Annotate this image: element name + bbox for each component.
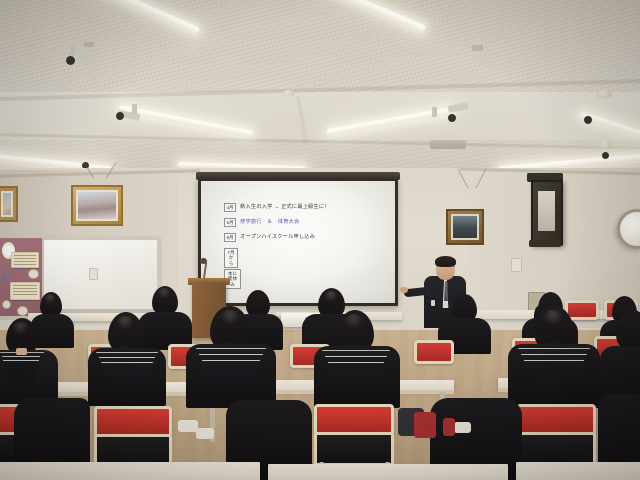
uniform-trim-stripe [325, 356, 387, 357]
ceiling [0, 0, 640, 182]
picture-art [78, 192, 116, 219]
slide-row-text: 新入生の入学 → 正式に最上級生に！ [240, 203, 329, 210]
slide-row-text: オープンハイスクール申し込み [240, 233, 315, 240]
presenter-hair [435, 256, 456, 267]
slide-row-text: 修学旅行 ＆ 体育大会 [240, 218, 299, 225]
slide-content: 4月 新入生の入学 → 正式に最上級生に！ 5月 修学旅行 ＆ 体育大会 6月 … [224, 203, 376, 287]
framed-painting-landscape [71, 185, 123, 226]
uniform-trim-stripe [2, 356, 40, 357]
uniform-trim-stripe [524, 360, 584, 361]
student-shoe [454, 422, 471, 433]
uniform-trim-stripe [99, 357, 155, 358]
hair-highlight [324, 291, 338, 302]
notice-card [11, 252, 39, 268]
hair-highlight [12, 322, 29, 335]
student-desk [0, 462, 260, 480]
chair-seat [314, 432, 394, 466]
uniform-trim-stripe [521, 354, 587, 355]
uniform-trim-stripe [101, 362, 153, 363]
uniform-trim-stripe [328, 362, 384, 363]
hair-highlight [220, 310, 240, 325]
notice-card [10, 282, 40, 300]
smoke-detector [598, 140, 612, 148]
star-decoration [1, 274, 8, 281]
slide-month-label: 7月 から [224, 248, 238, 268]
student-shoe [196, 428, 214, 439]
uniform-trim-stripe [3, 360, 39, 361]
school-bag [414, 412, 436, 438]
hair-highlight [344, 314, 363, 329]
smoke-detector [596, 90, 612, 99]
sticker [17, 306, 28, 316]
speaker-grille [538, 191, 555, 231]
student-desk [516, 462, 640, 480]
slide-month-label: 4月 [224, 203, 236, 212]
slide-row: 4月 新入生の入学 → 正式に最上級生に！ [224, 203, 330, 212]
tube-mount [472, 45, 483, 51]
student-shoe [178, 420, 198, 432]
sticker [28, 269, 39, 279]
spotlight [66, 56, 75, 65]
hair-highlight [543, 310, 563, 325]
tube-mount [84, 42, 94, 47]
uniform-trim-stripe [202, 360, 260, 361]
spotlight [448, 114, 456, 122]
ceiling-vent [430, 140, 466, 149]
wall-speaker-unit [531, 180, 563, 246]
spotlight-arm [132, 104, 137, 114]
smoke-detector [282, 90, 295, 97]
slide-row: 6月 オープンハイスクール申し込み [224, 233, 315, 242]
slide-row: 7月 から [224, 248, 242, 268]
spotlight-arm [432, 107, 437, 117]
framed-painting-small [0, 186, 18, 222]
chair-seat [516, 432, 596, 466]
wall-outlet [511, 258, 522, 272]
uniform-trim-stripe [199, 354, 263, 355]
wall-speaker-bracket-bottom [529, 240, 561, 247]
bulletin-board [0, 238, 44, 316]
framed-painting-dark [446, 209, 484, 245]
hair-highlight [44, 294, 56, 304]
slide-row: 5月 修学旅行 ＆ 体育大会 [224, 218, 299, 227]
chair-backrest [414, 340, 454, 364]
sticker [2, 300, 11, 309]
picture-art [3, 193, 11, 215]
hair-highlight [116, 316, 134, 330]
wall-outlet [89, 268, 98, 280]
student-desk [268, 464, 508, 480]
student-neck [16, 348, 27, 355]
picture-art [453, 216, 477, 238]
microphone-head [200, 258, 207, 264]
classroom-presentation-photo: 4月 新入生の入学 → 正式に最上級生に！ 5月 修学旅行 ＆ 体育大会 6月 … [0, 0, 640, 480]
presenter-name-badge [431, 300, 435, 306]
spotlight [584, 116, 592, 124]
slide-month-label: 6月 [224, 233, 236, 242]
spotlight [116, 112, 124, 120]
school-bag [443, 418, 455, 436]
presenter-hand [400, 287, 408, 293]
hair-highlight [157, 288, 171, 299]
spotlight [602, 152, 609, 159]
slide-month-label: 5月 [224, 218, 236, 227]
